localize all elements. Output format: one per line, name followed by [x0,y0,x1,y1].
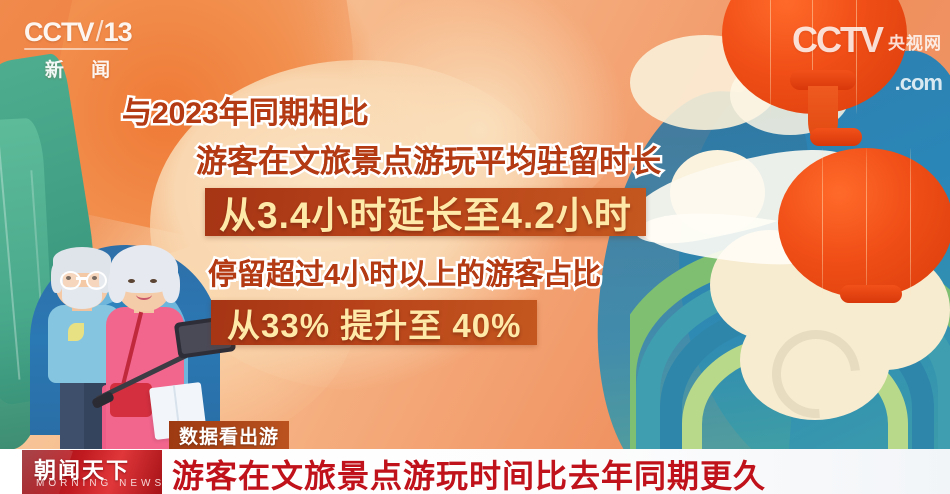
copy-line-1: 与2023年同期相比 [122,88,369,132]
broadcast-screenshot: CCTV / 13 新 闻 CCTV 央视网 .com [0,0,950,494]
program-logo: 朝闻天下 MORNING NEWS [22,450,162,494]
kicker-tag: 数据看出游 [169,421,289,449]
stat-banner-share: 从33% 提升至 40% [211,300,537,345]
stat-banner-duration-text: 从3.4小时延长至4.2小时 [219,185,632,239]
copy-line-4: 停留超过4小时以上的游客占比 [208,251,601,293]
copy-line-2: 游客在文旅景点游玩平均驻留时长 [196,136,661,181]
news-headline: 游客在文旅景点游玩时间比去年同期更久 [172,451,766,494]
stat-banner-share-text: 从33% 提升至 40% [227,299,521,347]
infographic-copy: 与2023年同期相比 与2023年同期相比 游客在文旅景点游玩平均驻留时长 游客… [0,0,950,494]
stat-banner-duration: 从3.4小时延长至4.2小时 [205,188,646,236]
program-logo-english: MORNING NEWS [36,478,162,489]
